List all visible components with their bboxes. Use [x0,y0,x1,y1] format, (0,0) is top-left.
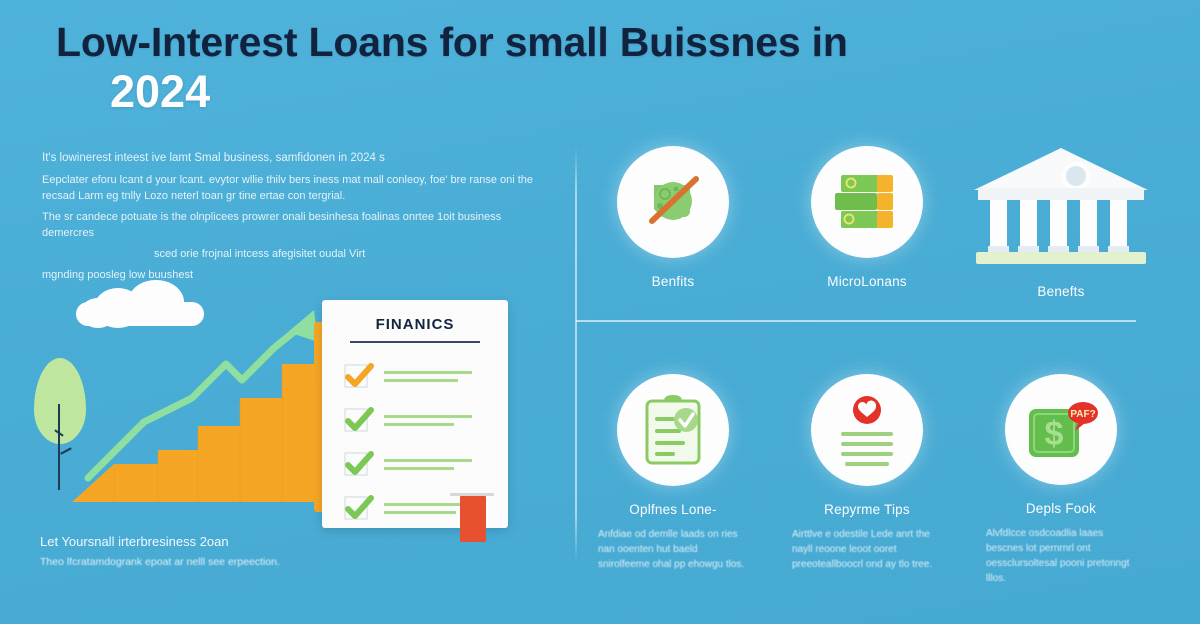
bank-building-icon [972,146,1150,268]
icon-label: Depls Fook [1026,501,1096,516]
intro-paragraph-3: sced orie frojnal intcess afegisitet oud… [154,247,365,263]
checklist-title-rule [350,341,480,343]
checklist-item[interactable] [344,363,508,389]
intro-lead-line: It's lowinerest inteest ive lamt Smal bu… [42,150,542,168]
left-caption-title: Let Yoursnall irterbresiness 2oan [40,534,330,551]
intro-paragraph-2: The sr candece potuate is the olnplicees… [42,210,542,242]
left-caption-sub: Theo lfcratamdogrank epoat ar nelll see … [40,555,330,570]
checklist-title: FINANICS [322,300,508,333]
icon-card-no-fee[interactable]: Benfits [576,146,770,358]
ribbon-bar [450,493,494,496]
icon-label: Benfits [652,274,695,289]
paid-badge-text: PAF? [1070,409,1095,420]
icon-card-loan-options[interactable]: Oplfnes Lone- Anfdiae od demlle laads on… [576,374,770,586]
icon-card-paid-funds[interactable]: $ PAF? Depls Fook Alvfdlcce osdcoadlia l… [964,374,1158,586]
icon-row-tips: Oplfnes Lone- Anfdiae od demlle laads on… [576,374,1160,586]
icon-sub-text: Airttlve e odestile Lede anrt the nayll … [792,527,942,572]
icon-row-benefits: Benfits MicroLonans [576,146,1160,358]
icon-disc [617,374,729,486]
checklist-item[interactable] [344,451,508,477]
clipboard-check-icon [642,393,704,467]
left-caption-block: Let Yoursnall irterbresiness 2oan Theo l… [40,534,330,570]
svg-text:$: $ [1045,415,1064,453]
checklist-item[interactable] [344,407,508,433]
icon-disc [617,146,729,258]
ribbon-icon [460,496,486,542]
icon-label: Repyrme Tips [824,502,910,517]
icon-disc: $ PAF? [1005,374,1117,485]
check-icon [344,495,374,521]
finances-checklist-card: FINANICS [322,300,512,530]
left-illustration: FINANICS [30,262,550,524]
icon-card-bank[interactable]: Benefts [964,146,1158,358]
icon-card-repayment-tips[interactable]: Repyrme Tips Airttlve e odestile Lede an… [770,374,964,586]
icon-disc [811,374,923,486]
icon-disc [966,146,1156,268]
icon-label: MicroLonans [827,274,907,289]
icon-card-microloans[interactable]: MicroLonans [770,146,964,358]
right-icon-grid: Benfits MicroLonans [576,146,1160,586]
check-icon [344,451,374,477]
icon-sub-text: Anfdiae od demlle laads on ries nan ooen… [598,527,748,572]
intro-paragraph-1: Eepclater eforu lcant d your lcant. evyt… [42,173,542,205]
page-title: Low-Interest Loans for small Buissnes in… [56,18,1146,116]
icon-label: Oplfnes Lone- [629,502,716,517]
icon-sub-text: Alvfdlcce osdcoadlia laaes bescnes lot p… [986,526,1136,586]
check-icon [344,407,374,433]
no-fee-coin-icon [636,165,710,239]
icon-label: Benefts [1037,284,1084,299]
checklist-paper: FINANICS [322,300,508,528]
heart-list-icon [831,394,903,466]
infographic-poster: Low-Interest Loans for small Buissnes in… [0,0,1200,624]
check-icon [344,363,374,389]
icon-disc [811,146,923,258]
cash-stack-icon [831,169,903,235]
title-line-year: 2024 [110,68,1146,115]
title-line-primary: Low-Interest Loans for small Buissnes in [56,18,1146,66]
paid-money-icon: $ PAF? [1023,395,1099,465]
